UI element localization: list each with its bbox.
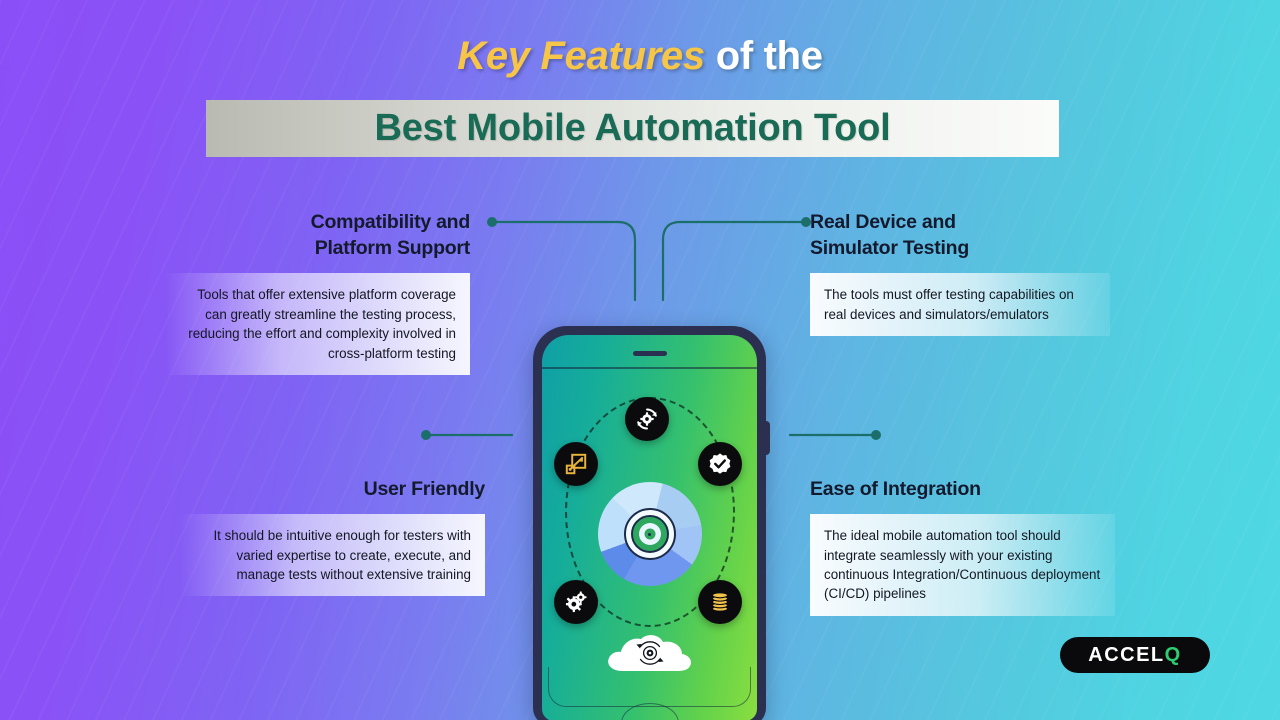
feature-card-user-friendly[interactable]: User Friendly It should be intuitive eno… — [180, 476, 485, 596]
feature-heading-line2: Platform Support — [315, 237, 470, 259]
title-highlight: Key Features — [457, 34, 705, 78]
phone-bottom-rule — [548, 667, 751, 707]
feature-heading-real-device: Real Device and Simulator Testing — [810, 209, 1110, 261]
phone-screen — [542, 335, 757, 720]
feature-body-compatibility: Tools that offer extensive platform cove… — [165, 273, 470, 375]
feature-card-ease-of-integration[interactable]: Ease of Integration The ideal mobile aut… — [810, 476, 1115, 616]
gear-refresh-glyph — [634, 406, 660, 432]
connector-dot-bottom-right — [871, 430, 881, 440]
connector-top-right — [663, 222, 806, 300]
phone-speaker — [633, 351, 667, 356]
target-ring-4 — [644, 529, 655, 540]
target-rings-graphic — [624, 508, 676, 560]
title-line-one: Key Features of the — [0, 34, 1280, 78]
check-badge-glyph — [707, 451, 733, 477]
target-ring-3 — [639, 523, 661, 545]
feature-body-user-friendly: It should be intuitive enough for tester… — [180, 514, 485, 596]
check-badge-icon[interactable] — [698, 442, 742, 486]
feature-heading-compatibility: Compatibility and Platform Support — [165, 209, 470, 261]
feature-body-real-device: The tools must offer testing capabilitie… — [810, 273, 1110, 336]
feature-card-compatibility[interactable]: Compatibility and Platform Support Tools… — [165, 209, 470, 375]
target-center-dot — [648, 533, 651, 536]
database-icon[interactable] — [698, 580, 742, 624]
target-ring-2 — [631, 515, 669, 553]
feature-heading-line1: Real Device and — [810, 211, 956, 233]
dual-gears-glyph — [563, 589, 589, 615]
logo-text-main: ACCEL — [1088, 644, 1164, 667]
phone-top-rule — [542, 367, 757, 369]
resize-scale-glyph — [563, 451, 589, 477]
page-title: Key Features of the — [0, 34, 1280, 78]
connector-dot-top-left — [487, 217, 497, 227]
dual-gears-icon[interactable] — [554, 580, 598, 624]
feature-body-ease-of-integration: The ideal mobile automation tool should … — [810, 514, 1115, 616]
feature-heading-line2: Simulator Testing — [810, 237, 969, 259]
database-glyph — [707, 589, 733, 615]
infographic-canvas: Key Features of the Best Mobile Automati… — [0, 0, 1280, 720]
feature-heading-ease-of-integration: Ease of Integration — [810, 476, 1115, 502]
logo-text-accent: Q — [1165, 644, 1182, 667]
feature-card-real-device[interactable]: Real Device and Simulator Testing The to… — [810, 209, 1110, 336]
title-banner: Best Mobile Automation Tool — [206, 100, 1059, 157]
feature-heading-line1: Compatibility and — [311, 211, 470, 233]
phone-illustration — [533, 326, 766, 720]
resize-scale-icon[interactable] — [554, 442, 598, 486]
gear-refresh-icon[interactable] — [625, 397, 669, 441]
feature-heading-user-friendly: User Friendly — [180, 476, 485, 502]
connector-dot-bottom-left — [421, 430, 431, 440]
phone-side-button — [764, 421, 770, 455]
connector-top-left — [492, 222, 635, 300]
title-rest: of the — [705, 34, 823, 78]
title-subtitle: Best Mobile Automation Tool — [374, 107, 890, 150]
accelq-logo[interactable]: ACCELQ — [1060, 637, 1210, 673]
